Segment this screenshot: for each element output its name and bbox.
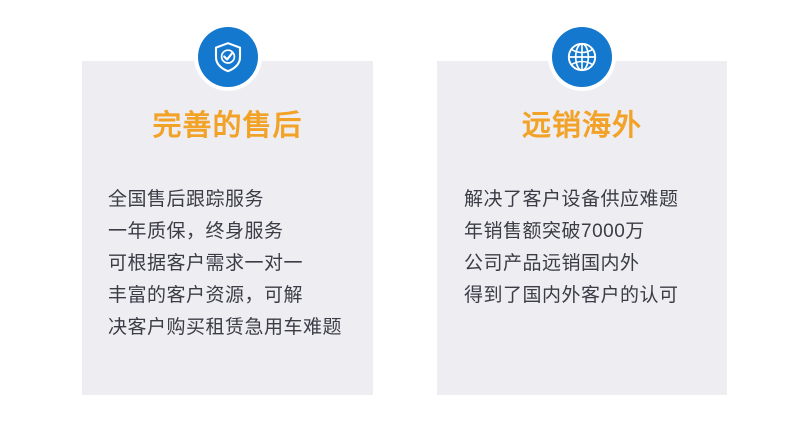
shield-check-icon xyxy=(198,27,258,87)
list-item: 全国售后跟踪服务 xyxy=(108,184,399,216)
feature-card-after-sales: 完善的售后 全国售后跟踪服务 一年质保，终身服务 可根据客户需求一对一 丰富的客… xyxy=(82,61,373,395)
feature-card-overseas-sales: 远销海外 解决了客户设备供应难题 年销售额突破7000万 公司产品远销国内外 得… xyxy=(437,61,727,395)
list-item: 得到了国内外客户的认可 xyxy=(464,280,754,312)
card-description-list: 解决了客户设备供应难题 年销售额突破7000万 公司产品远销国内外 得到了国内外… xyxy=(437,184,754,312)
list-item: 解决了客户设备供应难题 xyxy=(464,184,754,216)
card-title: 完善的售后 xyxy=(82,109,373,143)
card-title: 远销海外 xyxy=(437,109,727,143)
card-description-list: 全国售后跟踪服务 一年质保，终身服务 可根据客户需求一对一 丰富的客户资源，可解… xyxy=(82,184,399,344)
list-item: 一年质保，终身服务 xyxy=(108,216,399,248)
list-item: 年销售额突破7000万 xyxy=(464,216,754,248)
list-item: 决客户购买租赁急用车难题 xyxy=(108,312,399,344)
list-item: 丰富的客户资源，可解 xyxy=(108,280,399,312)
page-root: 完善的售后 全国售后跟踪服务 一年质保，终身服务 可根据客户需求一对一 丰富的客… xyxy=(0,0,800,421)
list-item: 公司产品远销国内外 xyxy=(464,248,754,280)
list-item: 可根据客户需求一对一 xyxy=(108,248,399,280)
globe-icon xyxy=(552,27,612,87)
